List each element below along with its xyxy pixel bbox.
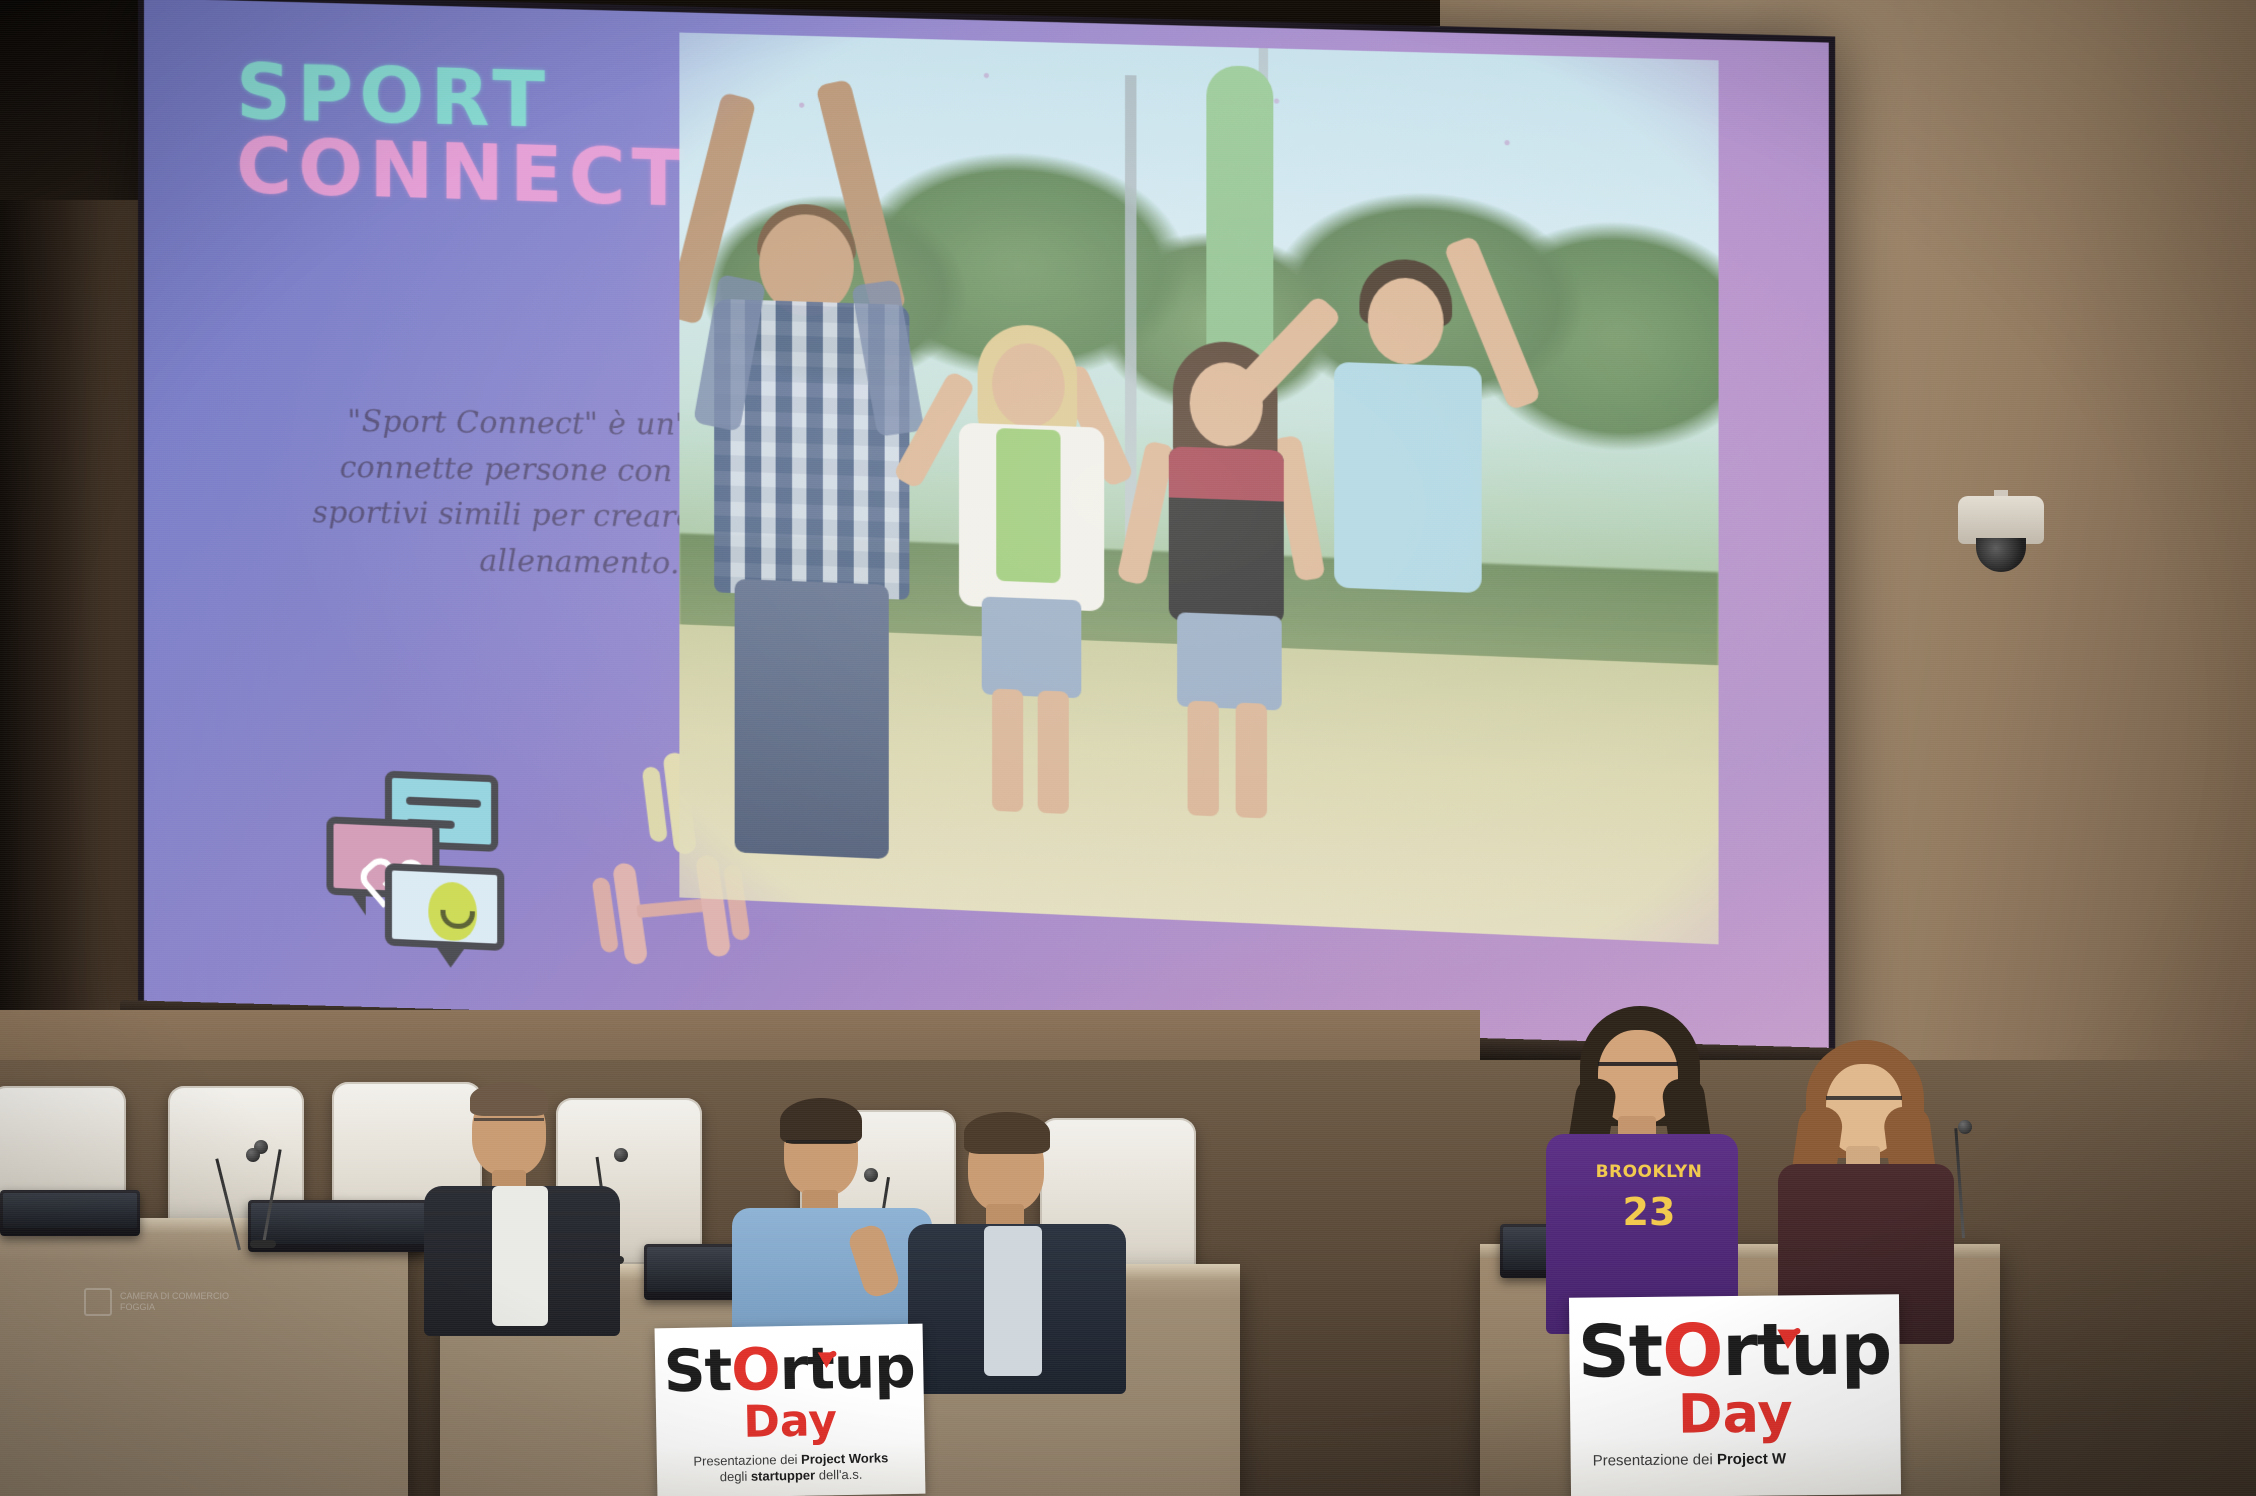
jersey-team-text: BROOKLYN (1594, 1162, 1704, 1184)
jersey-number-text: 23 (1594, 1190, 1704, 1232)
sign-left-brand-pre: St (663, 1336, 732, 1405)
sign-left-sub1-bold: Project Works (801, 1450, 888, 1467)
photo-person-woman-green-top (955, 313, 1111, 808)
sign-left-sub2-bold: startupper (751, 1467, 816, 1483)
startup-day-sign-left: StOrtup Day Presentazione dei Project Wo… (655, 1324, 926, 1496)
slide-title: SPORT CONNECT (236, 57, 691, 215)
sign-right-brand-pre: St (1577, 1309, 1662, 1394)
sign-right-sub1-pre: Presentazione dei (1593, 1451, 1717, 1469)
panel-table-left: CAMERA DI COMMERCIO FOGGIA (0, 1218, 408, 1496)
photo-person-man-plaid (700, 154, 926, 872)
sign-right-brand-o: O (1662, 1308, 1723, 1393)
chat-bubbles-icon-group (326, 768, 518, 958)
sign-right-day: Day (1578, 1385, 1893, 1442)
chat-bubble-smiley-icon (385, 863, 504, 951)
sign-right-sub1-bold: Project W (1717, 1451, 1786, 1469)
sign-right-brand-post: rtup (1722, 1306, 1892, 1392)
eyeglasses-icon (786, 1140, 856, 1152)
presenter-2-girl-glasses-dark-top (1778, 1044, 1978, 1334)
conference-hall-scene: SPORT CONNECT "Sport Connect" è un'app c… (0, 0, 2256, 1496)
desk-emblem-line2: FOGGIA (120, 1302, 229, 1313)
presenter-1-woman-glasses-jersey: BROOKLYN 23 (1550, 1012, 1750, 1312)
slide-photo (679, 33, 1718, 945)
panelist-1-bald-man-dark-jacket (430, 1078, 620, 1318)
eyeglasses-icon (1826, 1096, 1902, 1110)
slide-title-line2: CONNECT (236, 131, 691, 215)
monitor-1 (0, 1190, 140, 1236)
chamber-of-commerce-emblem-icon (84, 1288, 112, 1316)
desk-emblem-line1: CAMERA DI COMMERCIO (120, 1291, 229, 1302)
sign-left-sub1-pre: Presentazione dei (693, 1451, 801, 1468)
sign-left-day: Day (664, 1397, 917, 1445)
eyeglasses-icon (474, 1118, 544, 1130)
presentation-slide: SPORT CONNECT "Sport Connect" è un'app c… (144, 0, 1829, 1108)
photo-person-man-blue-shirt (1317, 240, 1517, 679)
projection-screen: SPORT CONNECT "Sport Connect" è un'app c… (138, 0, 1835, 1114)
startup-day-sign-right: StOrtup Day Presentazione dei Project W (1569, 1294, 1901, 1496)
sign-left-sub2-post: dell'a.s. (815, 1467, 863, 1483)
sign-left-brand-post: rtup (779, 1333, 915, 1403)
panelist-3-man-dark-blazer (920, 1112, 1120, 1372)
security-camera-icon (1958, 496, 2044, 544)
panelist-2-man-light-blue-shirt (740, 1096, 930, 1356)
eyeglasses-icon (1598, 1062, 1678, 1078)
sign-left-sub2-pre: degli (720, 1469, 751, 1485)
sign-left-brand-o: O (731, 1335, 780, 1404)
smiley-face-icon (428, 881, 477, 942)
